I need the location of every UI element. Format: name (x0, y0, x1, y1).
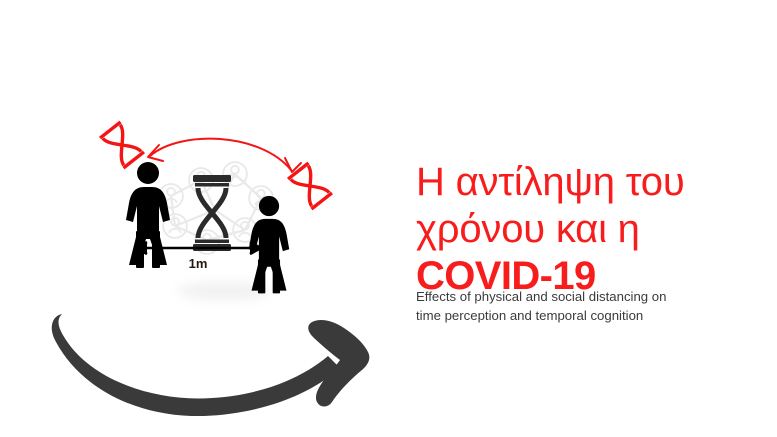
woman-pictogram-icon (126, 162, 170, 268)
social-distancing-illustration: 1m (95, 118, 345, 308)
title-block: Η αντίληψη του χρόνου και η COVID-19 Eff… (416, 112, 761, 347)
title-greek-lines: Η αντίληψη του χρόνου και η (416, 160, 685, 251)
hourglass-tilted-red-icon (100, 122, 144, 168)
slide-canvas: 1m Η αντίληψη του χρόνου και η COVID-19 … (0, 0, 777, 437)
distance-label: 1m (189, 256, 208, 271)
curved-hand-drawn-arrow-icon (44, 298, 374, 416)
hourglass-icon (193, 175, 231, 251)
page-subtitle: Effects of physical and social distancin… (416, 287, 751, 325)
